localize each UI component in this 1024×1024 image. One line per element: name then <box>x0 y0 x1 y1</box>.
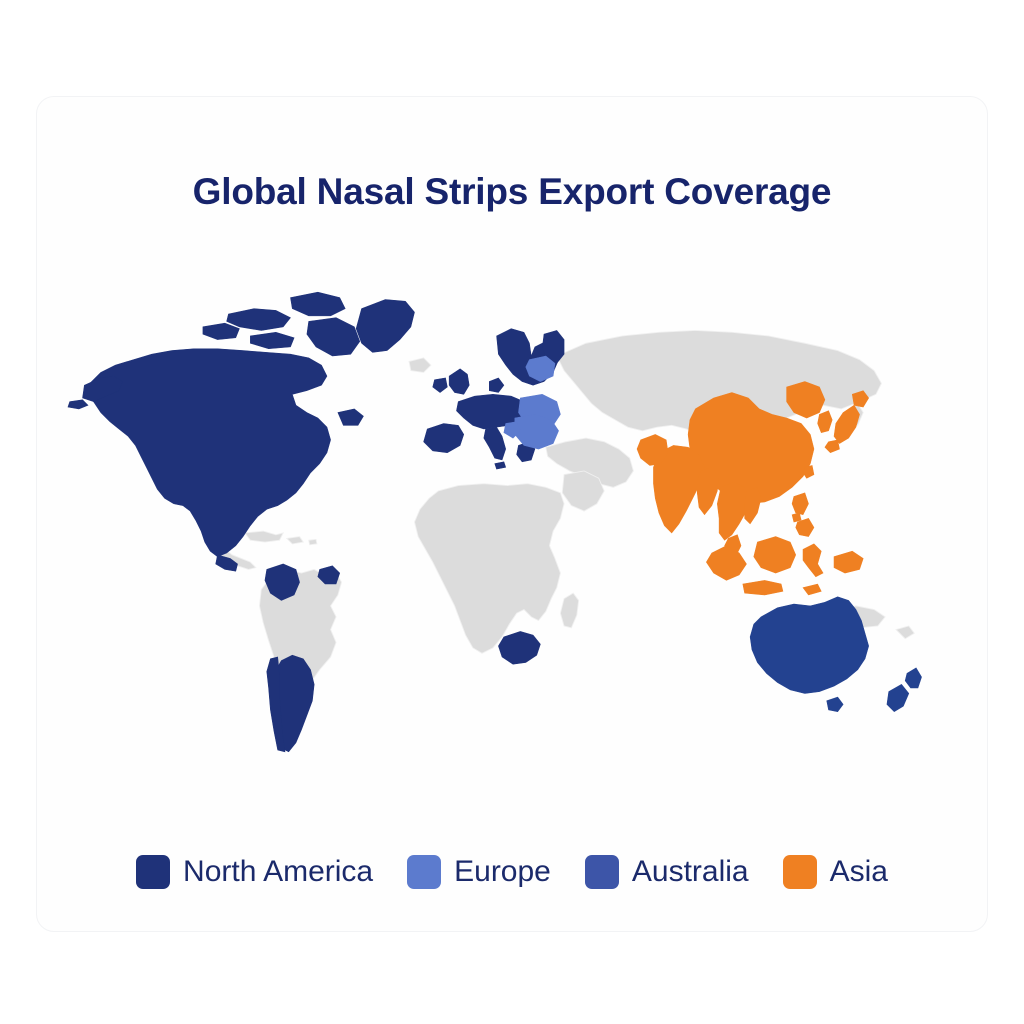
legend-label-north-america: North America <box>183 857 373 887</box>
region-taiwan <box>803 465 814 478</box>
region-italy <box>484 427 506 460</box>
legend-item-europe[interactable]: Europe <box>407 855 551 889</box>
region-japan-honshu <box>834 405 860 443</box>
legend-item-australia[interactable]: Australia <box>585 855 749 889</box>
region-north-america-mainland <box>88 349 331 557</box>
region-korea <box>818 411 833 433</box>
region-new-zealand-south <box>887 684 909 711</box>
region-borneo <box>754 537 796 573</box>
region-sicily <box>495 462 506 469</box>
region-uk <box>449 369 469 395</box>
australia-layer[interactable] <box>750 597 921 712</box>
region-australia <box>750 597 869 694</box>
chart-card: Global Nasal Strips Export Coverage <box>36 96 988 932</box>
region-philippines-visayas <box>792 513 801 522</box>
region-baffin <box>307 318 360 356</box>
region-iberia <box>424 424 464 453</box>
region-sulawesi <box>803 544 823 577</box>
page-root: Global Nasal Strips Export Coverage <box>0 0 1024 1024</box>
legend-label-asia: Asia <box>830 857 888 887</box>
region-newfoundland <box>338 409 364 425</box>
world-map-container <box>57 242 969 802</box>
region-ireland <box>433 378 448 393</box>
legend-label-europe: Europe <box>454 857 551 887</box>
legend-item-north-america[interactable]: North America <box>136 855 373 889</box>
legend-item-asia[interactable]: Asia <box>783 855 888 889</box>
region-canadian-arctic-4 <box>250 332 294 348</box>
legend-swatch-asia <box>783 855 817 889</box>
region-canadian-arctic-3 <box>203 323 239 339</box>
land-hispaniola <box>287 537 303 544</box>
region-denmark <box>489 378 504 393</box>
world-map-svg[interactable] <box>57 242 969 802</box>
land-iceland <box>409 358 431 373</box>
land-pacific-islands <box>896 626 914 639</box>
legend-swatch-north-america <box>136 855 170 889</box>
region-timor <box>803 584 821 595</box>
land-puerto-rico <box>309 539 317 544</box>
page-title: Global Nasal Strips Export Coverage <box>37 171 987 213</box>
region-philippines-luzon <box>792 493 808 515</box>
region-papua-west <box>834 551 863 573</box>
legend-swatch-australia <box>585 855 619 889</box>
region-myanmar <box>697 467 719 514</box>
region-vietnam <box>745 487 761 523</box>
region-aleutians <box>68 400 88 409</box>
region-canadian-arctic-2 <box>290 292 345 316</box>
region-greenland <box>356 299 414 352</box>
land-caribbean <box>245 531 283 542</box>
region-japan-kyushu <box>825 440 840 453</box>
region-java <box>743 580 783 595</box>
region-sumatra <box>706 546 746 581</box>
legend-swatch-europe <box>407 855 441 889</box>
region-tasmania <box>827 697 843 712</box>
land-madagascar <box>560 593 578 628</box>
region-south-africa <box>498 631 540 664</box>
land-africa <box>415 484 565 654</box>
legend: North America Europe Australia Asia <box>37 855 987 889</box>
region-new-zealand-north <box>905 668 921 688</box>
legend-label-australia: Australia <box>632 857 749 887</box>
